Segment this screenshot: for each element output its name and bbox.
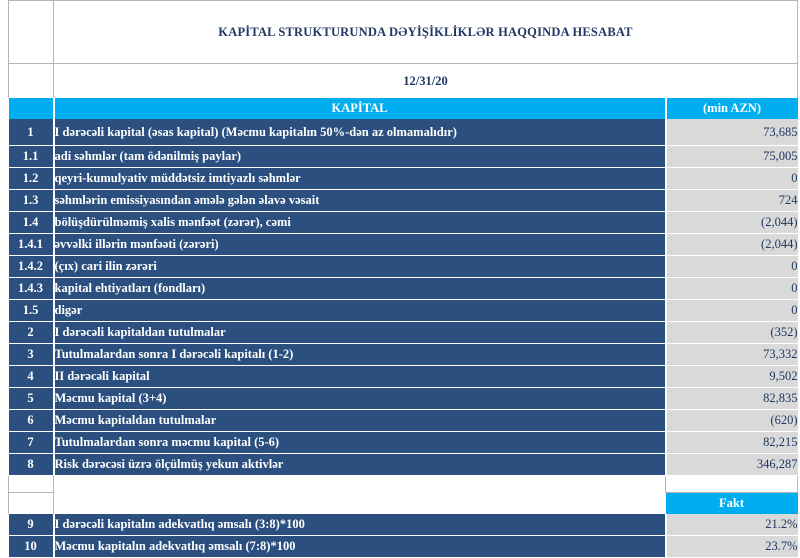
date-left-blank-cell [9, 64, 54, 99]
fakt-header: Fakt [666, 493, 798, 515]
row-value: 346,287 [666, 454, 798, 476]
row-label: Məcmu kapital (3+4) [54, 388, 666, 410]
row-value: 73,685 [666, 119, 798, 146]
row-value: 73,332 [666, 344, 798, 366]
row-number: 2 [9, 322, 54, 344]
spacer-box-cell [9, 476, 54, 493]
spacer-blank-cell [54, 476, 666, 493]
fakt-header-row: Fakt [9, 493, 798, 515]
row-number: 1.4.2 [9, 256, 54, 278]
row-number: 1.3 [9, 190, 54, 212]
fakt-middle-blank-cell [54, 493, 666, 515]
row-number: 1.5 [9, 300, 54, 322]
row-label: səhmlərin emissiyasından əmələ gələn əla… [54, 190, 666, 212]
table-row: 1.4.3kapital ehtiyatları (fondları)0 [9, 278, 798, 300]
fakt-left-blank-cell [9, 493, 54, 515]
table-row: 1.3səhmlərin emissiyasından əmələ gələn … [9, 190, 798, 212]
row-label: Məcmu kapitaldan tutulmalar [54, 410, 666, 432]
table-row: 5Məcmu kapital (3+4)82,835 [9, 388, 798, 410]
row-value: (620) [666, 410, 798, 432]
row-label: kapital ehtiyatları (fondları) [54, 278, 666, 300]
row-number: 1.4 [9, 212, 54, 234]
table-row: 1.1adi səhmlər (tam ödənilmiş paylar)75,… [9, 146, 798, 168]
ratio-row: 9I dərəcəli kapitalın adekvatlıq əmsalı … [9, 514, 798, 536]
row-value: 0 [666, 256, 798, 278]
row-number: 1 [9, 119, 54, 146]
row-label: II dərəcəli kapital [54, 366, 666, 388]
row-number: 7 [9, 432, 54, 454]
ratio-row-label: I dərəcəli kapitalın adekvatlıq əmsalı (… [54, 514, 666, 536]
row-value: 9,502 [666, 366, 798, 388]
row-value: 724 [666, 190, 798, 212]
ratio-row-number: 10 [9, 536, 54, 558]
table-row: 6Məcmu kapitaldan tutulmalar(620) [9, 410, 798, 432]
row-number: 1.2 [9, 168, 54, 190]
row-label: Tutulmalardan sonra I dərəcəli kapitalı … [54, 344, 666, 366]
row-label: əvvəlki illərin mənfəəti (zərəri) [54, 234, 666, 256]
spacer-row-1 [9, 476, 798, 493]
row-number: 1.4.3 [9, 278, 54, 300]
ratio-row-value: 21.2% [666, 514, 798, 536]
row-label: qeyri-kumulyativ müddətsiz imtiyazlı səh… [54, 168, 666, 190]
row-value: 82,835 [666, 388, 798, 410]
row-label: I dərəcəli kapital (əsas kapital) (Məcmu… [54, 119, 666, 146]
report-date: 12/31/20 [54, 64, 798, 99]
row-number: 8 [9, 454, 54, 476]
table-row: 1I dərəcəli kapital (əsas kapital) (Məcm… [9, 119, 798, 146]
header-value-column: (min AZN) [666, 98, 798, 119]
row-value: 0 [666, 278, 798, 300]
row-value: (2,044) [666, 234, 798, 256]
header-number-column [9, 98, 54, 119]
table-row: 1.4.2(çıx) cari ilin zərəri0 [9, 256, 798, 278]
column-header-row: KAPİTAL (min AZN) [9, 98, 798, 119]
spacer-value-box-cell [666, 476, 798, 493]
table-row: 2I dərəcəli kapitaldan tutulmalar(352) [9, 322, 798, 344]
table-row: 1.5digər0 [9, 300, 798, 322]
row-label: adi səhmlər (tam ödənilmiş paylar) [54, 146, 666, 168]
row-number: 6 [9, 410, 54, 432]
capital-structure-report-sheet: KAPİTAL STRUKTURUNDA DƏYİŞİKLİKLƏR HAQQI… [0, 0, 800, 548]
table-row: 7Tutulmalardan sonra məcmu kapital (5-6)… [9, 432, 798, 454]
row-label: bölüşdürülməmiş xalis mənfəət (zərər), c… [54, 212, 666, 234]
row-label: Risk dərəcəsi üzrə ölçülmüş yekun aktivl… [54, 454, 666, 476]
row-value: 75,005 [666, 146, 798, 168]
row-label: digər [54, 300, 666, 322]
table-row: 1.2qeyri-kumulyativ müddətsiz imtiyazlı … [9, 168, 798, 190]
row-label: Tutulmalardan sonra məcmu kapital (5-6) [54, 432, 666, 454]
date-row: 12/31/20 [9, 64, 798, 99]
row-number: 1.1 [9, 146, 54, 168]
row-label: I dərəcəli kapitaldan tutulmalar [54, 322, 666, 344]
ratio-row-number: 9 [9, 514, 54, 536]
ratio-body: 9I dərəcəli kapitalın adekvatlıq əmsalı … [9, 514, 798, 558]
table-row: 3Tutulmalardan sonra I dərəcəli kapitalı… [9, 344, 798, 366]
row-number: 3 [9, 344, 54, 366]
row-value: (352) [666, 322, 798, 344]
row-value: 82,215 [666, 432, 798, 454]
title-row: KAPİTAL STRUKTURUNDA DƏYİŞİKLİKLƏR HAQQI… [9, 1, 798, 64]
row-number: 4 [9, 366, 54, 388]
report-table: KAPİTAL STRUKTURUNDA DƏYİŞİKLİKLƏR HAQQI… [8, 0, 798, 558]
page-title: KAPİTAL STRUKTURUNDA DƏYİŞİKLİKLƏR HAQQI… [54, 1, 798, 64]
table-row: 1.4.1əvvəlki illərin mənfəəti (zərəri)(2… [9, 234, 798, 256]
table-row: 1.4bölüşdürülməmiş xalis mənfəət (zərər)… [9, 212, 798, 234]
report-body: 1I dərəcəli kapital (əsas kapital) (Məcm… [9, 119, 798, 476]
row-number: 1.4.1 [9, 234, 54, 256]
row-value: 0 [666, 300, 798, 322]
title-left-blank-cell [9, 1, 54, 64]
row-value: 0 [666, 168, 798, 190]
row-label: (çıx) cari ilin zərəri [54, 256, 666, 278]
ratio-row-value: 23.7% [666, 536, 798, 558]
ratio-row: 10Məcmu kapitalın adekvatlıq əmsalı (7:8… [9, 536, 798, 558]
row-number: 5 [9, 388, 54, 410]
row-value: (2,044) [666, 212, 798, 234]
table-row: 4II dərəcəli kapital9,502 [9, 366, 798, 388]
header-kapital-column: KAPİTAL [54, 98, 666, 119]
ratio-row-label: Məcmu kapitalın adekvatlıq əmsalı (7:8)*… [54, 536, 666, 558]
table-row: 8Risk dərəcəsi üzrə ölçülmüş yekun aktiv… [9, 454, 798, 476]
